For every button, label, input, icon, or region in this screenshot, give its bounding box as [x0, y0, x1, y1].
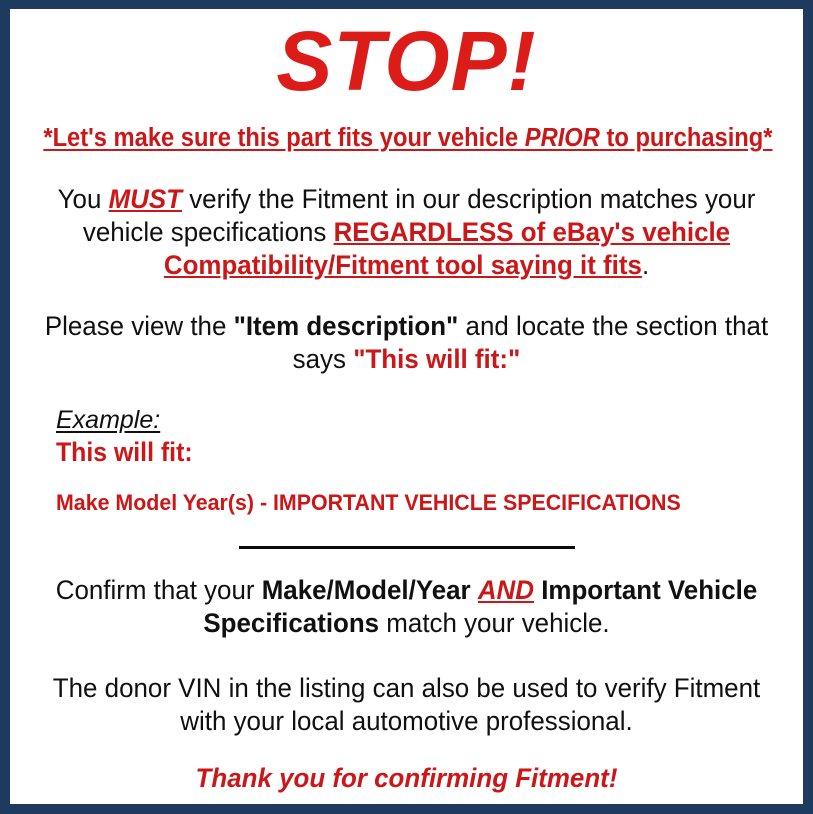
section-divider [239, 546, 575, 549]
paragraph-must-verify: You MUST verify the Fitment in our descr… [26, 183, 787, 282]
paragraph-item-description: Please view the "Item description" and l… [26, 310, 787, 376]
and-keyword: AND [478, 575, 534, 605]
must-seg-lead: You [58, 184, 109, 214]
example-fit-heading: This will fit: [56, 437, 743, 468]
confirm-space-1 [471, 575, 478, 605]
paragraph-donor-vin: The donor VIN in the listing can also be… [26, 672, 787, 738]
thank-you-line: Thank you for confirming Fitment! [26, 762, 787, 794]
confirm-seg-lead: Confirm that your [56, 575, 262, 605]
fitment-notice-body: STOP! *Let's make sure this part fits yo… [10, 9, 803, 804]
subtitle-lead: *Let's make sure this part fits your veh… [43, 124, 524, 152]
must-keyword: MUST [109, 184, 182, 214]
example-label-row: Example: [56, 406, 803, 435]
must-seg-end: . [642, 250, 649, 280]
subtitle-banner: *Let's make sure this part fits your veh… [38, 123, 775, 153]
divider-wrapper [10, 542, 803, 552]
item-description-quote: "Item description" [234, 311, 459, 341]
page-title: STOP! [10, 17, 803, 105]
confirm-space-2 [534, 575, 541, 605]
fitment-notice-card: STOP! *Let's make sure this part fits yo… [0, 0, 813, 814]
make-model-year-label: Make/Model/Year [262, 575, 471, 605]
example-block: Example: This will fit: Make Model Year(… [10, 406, 803, 516]
subtitle-emphasis: PRIOR [525, 124, 600, 152]
example-label: Example: [56, 406, 160, 435]
view-seg-lead: Please view the [45, 311, 234, 341]
subtitle-tail: to purchasing* [600, 124, 773, 152]
example-spec-line: Make Model Year(s) - IMPORTANT VEHICLE S… [56, 490, 766, 516]
this-will-fit-quote: "This will fit:" [353, 344, 520, 374]
paragraph-confirm: Confirm that your Make/Model/Year AND Im… [26, 574, 787, 640]
confirm-seg-end: match your vehicle. [379, 608, 610, 638]
